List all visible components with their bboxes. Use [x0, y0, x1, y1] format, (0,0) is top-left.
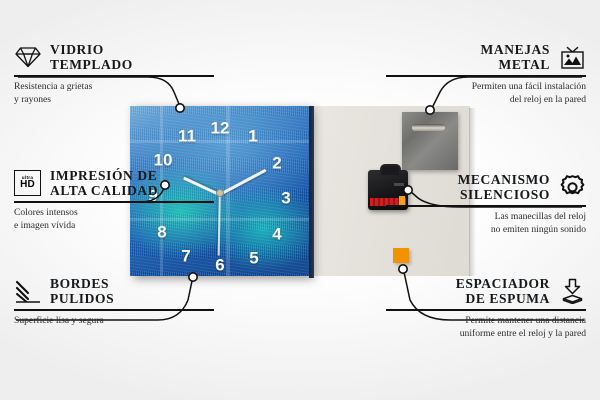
ultra-hd-icon: ultra HD — [14, 170, 41, 197]
feature-title-line1: ESPACIADOR — [456, 276, 550, 291]
feature-manejas-metal: MANEJAS METAL Permiten una fácil instala… — [386, 42, 586, 107]
clock-numeral-3: 3 — [281, 190, 290, 207]
feature-title-line1: VIDRIO — [50, 42, 133, 57]
feature-rule — [386, 75, 586, 77]
polished-edges-icon — [14, 278, 41, 305]
feature-title-line2: DE ESPUMA — [456, 291, 550, 306]
feature-title-line1: IMPRESIÓN DE — [50, 168, 158, 183]
feature-title-line1: MECANISMO — [458, 172, 550, 187]
clock-numeral-2: 2 — [272, 155, 281, 172]
clock-second-hand — [218, 194, 221, 256]
feature-desc-line2: y rayones — [14, 94, 214, 107]
feature-title-line2: TEMPLADO — [50, 57, 133, 72]
feature-rule — [386, 309, 586, 311]
diamond-icon — [14, 44, 41, 71]
feature-desc-line1: Colores intensos — [14, 207, 214, 220]
glass-edge — [309, 106, 314, 278]
feature-desc-line1: Las manecillas del reloj — [386, 211, 586, 224]
picture-hanging-icon — [559, 44, 586, 71]
metal-hanger-plate — [402, 112, 458, 170]
feature-desc-line2: e imagen vívida — [14, 220, 214, 233]
feature-desc-line1: Superficie lisa y segura — [14, 315, 214, 328]
feature-desc-line2: uniforme entre el reloj y la pared — [386, 328, 586, 341]
feature-rule — [14, 75, 214, 77]
clock-numeral-1: 1 — [248, 128, 257, 145]
feature-title-line1: MANEJAS — [481, 42, 550, 57]
foam-spacer-icon — [559, 278, 586, 305]
feature-title-line1: BORDES — [50, 276, 114, 291]
feature-rule — [14, 309, 214, 311]
clock-center-hub — [216, 189, 224, 197]
clock-numeral-7: 7 — [181, 248, 190, 265]
clock-numeral-12: 12 — [211, 120, 230, 137]
feature-title-line2: METAL — [481, 57, 550, 72]
ultra-hd-large-text: HD — [20, 180, 35, 190]
feature-desc-line2: del reloj en la pared — [386, 94, 586, 107]
feature-espaciador-espuma: ESPACIADOR DE ESPUMA Permite mantener un… — [386, 276, 586, 341]
hanger-slot — [412, 124, 445, 131]
clock-numeral-11: 11 — [178, 128, 196, 145]
clock-numeral-10: 10 — [154, 152, 173, 169]
feature-desc-line1: Permite mantener una distancia — [386, 315, 586, 328]
infographic-canvas: 12 1 2 3 4 5 6 7 8 9 10 11 — [0, 0, 600, 400]
artwork-gridline — [130, 140, 310, 143]
clock-numeral-5: 5 — [249, 250, 258, 267]
feature-rule — [386, 205, 586, 207]
feature-vidrio-templado: VIDRIO TEMPLADO Resistencia a grietas y … — [14, 42, 214, 107]
feature-desc-line2: no emiten ningún sonido — [386, 224, 586, 237]
feature-desc-line1: Permiten una fácil instalación — [386, 81, 586, 94]
gear-icon — [559, 174, 586, 201]
feature-bordes-pulidos: BORDES PULIDOS Superficie lisa y segura — [14, 276, 214, 328]
feature-title-line2: ALTA CALIDAD — [50, 183, 158, 198]
feature-title-line2: SILENCIOSO — [458, 187, 550, 202]
clock-numeral-4: 4 — [272, 226, 281, 243]
feature-mecanismo-silencioso: MECANISMO SILENCIOSO Las manecillas del … — [386, 172, 586, 237]
clock-numeral-6: 6 — [215, 257, 224, 274]
feature-rule — [14, 201, 214, 203]
foam-spacer-sample — [393, 248, 409, 263]
feature-impresion-alta-calidad: ultra HD IMPRESIÓN DE ALTA CALIDAD Color… — [14, 168, 214, 233]
feature-title-line2: PULIDOS — [50, 291, 114, 306]
feature-desc-line1: Resistencia a grietas — [14, 81, 214, 94]
